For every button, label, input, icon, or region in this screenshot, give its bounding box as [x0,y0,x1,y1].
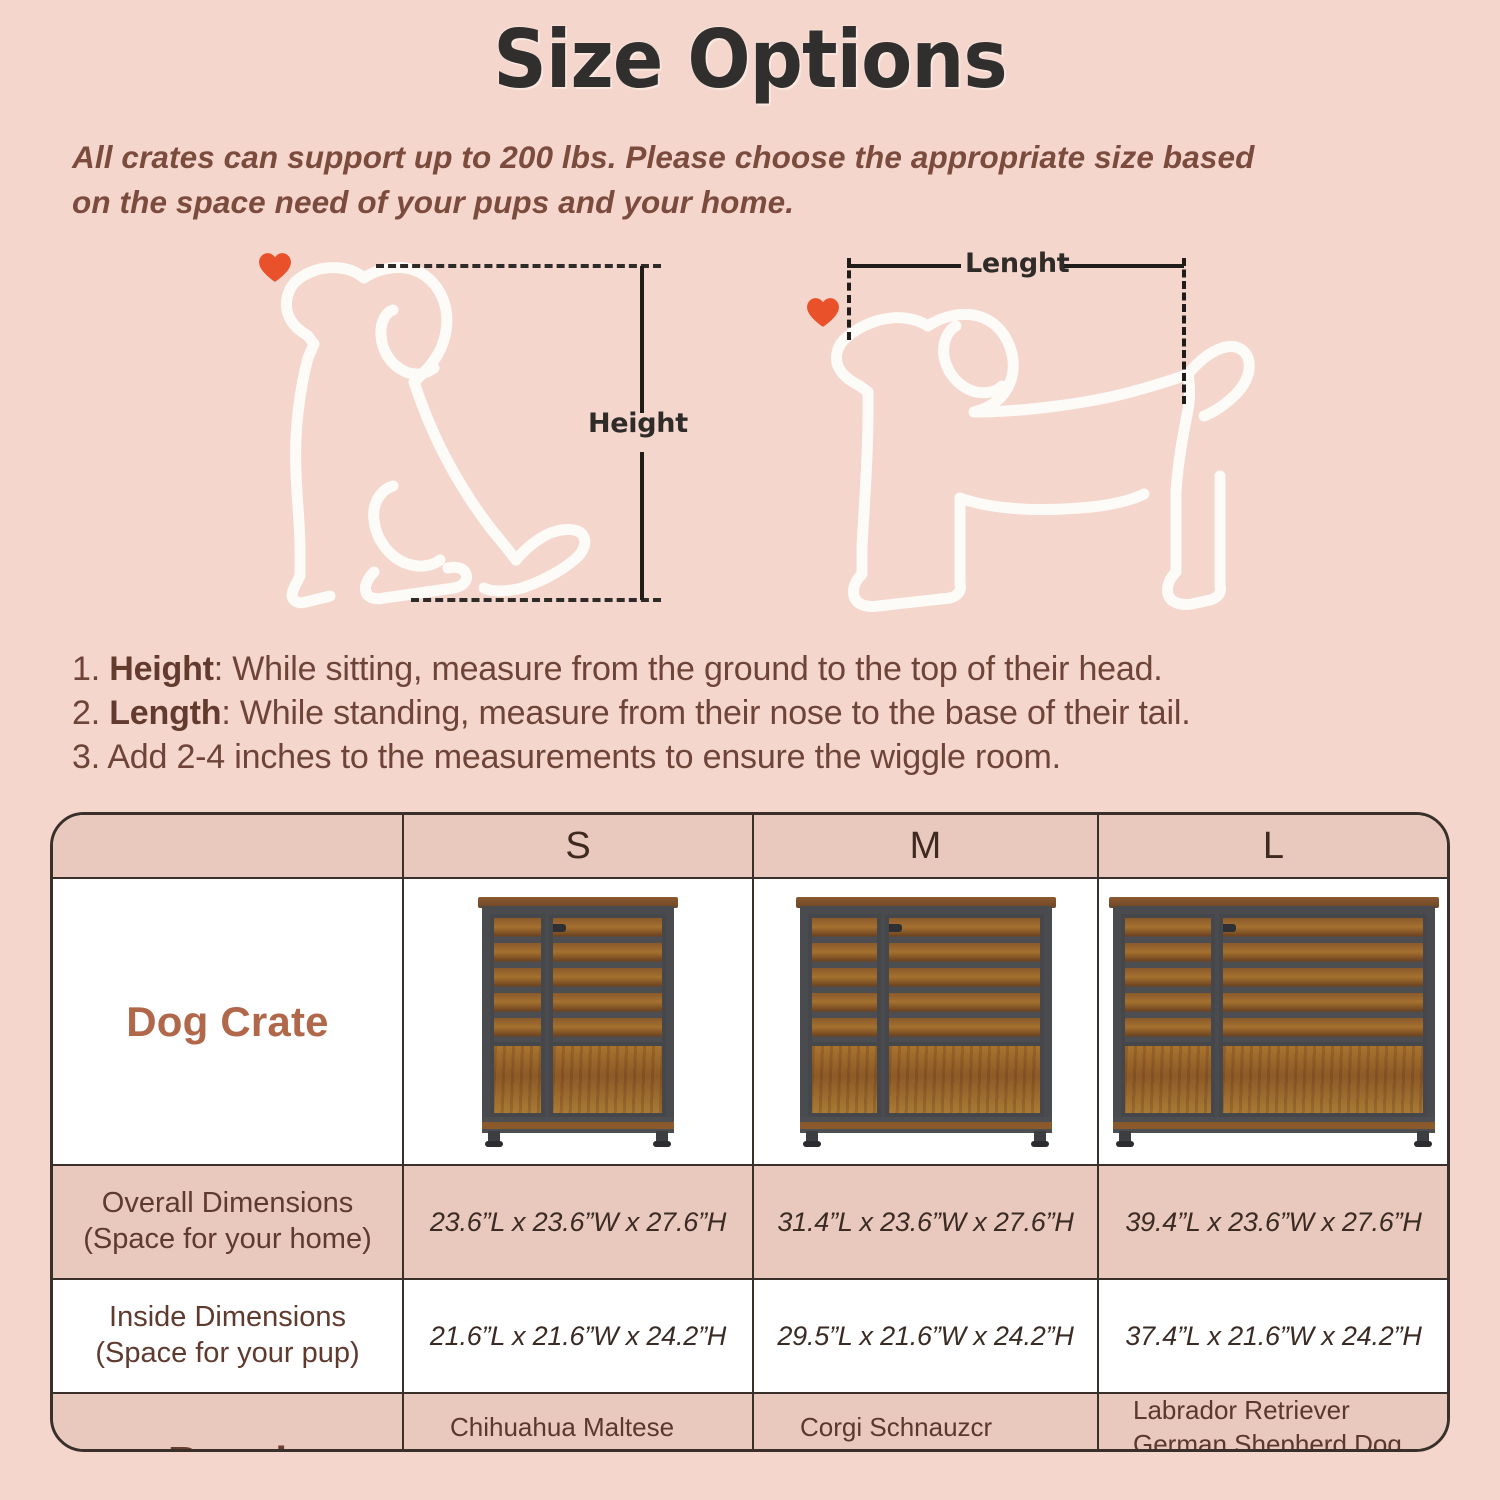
standing-dog-diagram: Lenght [790,240,1270,630]
subtitle-line-1: All crates can support up to 200 lbs. Pl… [72,135,1428,180]
overall-dimensions-label-wrap: Overall Dimensions (Space for your home) [53,1182,402,1262]
crate-illustration-m [796,897,1056,1147]
crate-panel-bottom-left-m [812,1042,877,1112]
instruction-item-3: 3. Add 2-4 inches to the measurements to… [72,736,1402,780]
breed-list-l: Labrador Retriever German Shepherd Dog G… [1099,1394,1448,1452]
subtitle-line-2: on the space need of your pups and your … [72,180,1428,225]
inside-dimensions-text-l: 37.4”L x 21.6”W x 24.2”H [1125,1321,1421,1351]
inside-dimensions-value-l: 37.4”L x 21.6”W x 24.2”H [1098,1279,1448,1393]
crate-panel-bottom-right-s [553,1042,662,1112]
crate-leg-left-m [806,1131,818,1147]
page-title: Size Options [53,0,1448,103]
length-arrow-right [1060,264,1184,268]
instruction-2-number: 2. [72,694,100,732]
dog-crate-label-text: Dog Crate [126,998,329,1045]
inside-dimensions-text-s: 21.6”L x 21.6”W x 24.2”H [430,1321,726,1351]
crate-image-cell-s [403,878,753,1165]
crate-base-m [800,1117,1052,1133]
crate-leg-right-s [656,1131,668,1147]
length-right-dashed-line [1182,258,1186,404]
height-top-dashed-line [376,264,661,268]
instructions-list: 1. Height: While sitting, measure from t… [72,648,1402,780]
crate-image-cell-l [1098,878,1448,1165]
row-label-inside-dimensions: Inside Dimensions (Space for your pup) [53,1279,403,1393]
crate-illustration-s [478,897,678,1147]
crate-door-left-l [1121,914,1216,1117]
instruction-item-1: 1. Height: While sitting, measure from t… [72,648,1402,692]
height-arrow-upper [640,266,644,413]
sitting-dog-diagram: Height [248,240,698,630]
table-row-overall-dimensions: Overall Dimensions (Space for your home)… [53,1165,1448,1279]
inside-dimensions-label-wrap: Inside Dimensions (Space for your pup) [53,1296,402,1376]
overall-dimensions-value-m: 31.4”L x 23.6”W x 27.6”H [753,1165,1098,1279]
crate-body-m [800,906,1052,1125]
instruction-1-number: 1. [72,650,100,688]
row-label-overall-dimensions: Overall Dimensions (Space for your home) [53,1165,403,1279]
crate-door-right-l [1219,914,1426,1117]
table-header-row: S M L [53,815,1448,878]
dog-measurement-diagrams: Height Lenght [0,240,1500,640]
breed-item: Chihuahua Maltese [450,1411,752,1445]
crate-latch-icon-m [885,924,902,932]
breed-label-text: Breed [168,1438,287,1452]
header-cell-l: L [1098,815,1448,878]
instruction-1-text: : While sitting, measure from the ground… [214,650,1163,688]
row-label-breed: Breed [53,1393,403,1452]
instruction-2-term: Length [109,694,221,732]
table-row-dog-crate: Dog Crate [53,878,1448,1165]
breed-value-l: Labrador Retriever German Shepherd Dog G… [1098,1393,1448,1452]
instruction-1-term: Height [109,650,214,688]
crate-base-s [482,1117,674,1133]
row-label-dog-crate: Dog Crate [53,878,403,1165]
breed-item: Dachshund [800,1445,1097,1452]
crate-image-cell-m [753,878,1098,1165]
inside-dimensions-value-s: 21.6”L x 21.6”W x 24.2”H [403,1279,753,1393]
overall-dimensions-text-l: 39.4”L x 23.6”W x 27.6”H [1125,1207,1421,1237]
crate-panel-bottom-left-l [1125,1042,1212,1112]
standing-dog-outline [790,240,1270,630]
inside-dimensions-sublabel: (Space for your pup) [61,1336,394,1372]
breed-item: Corgi Schnauzcr [800,1411,1097,1445]
inside-dimensions-text-m: 29.5”L x 21.6”W x 24.2”H [777,1321,1073,1351]
table-row-inside-dimensions: Inside Dimensions (Space for your pup) 2… [53,1279,1448,1393]
crate-leg-right-m [1034,1131,1046,1147]
crate-body-l [1113,906,1435,1125]
size-comparison-table: S M L Dog Crate [50,812,1450,1452]
overall-dimensions-value-s: 23.6”L x 23.6”W x 27.6”H [403,1165,753,1279]
crate-panel-bottom-right-l [1223,1042,1422,1112]
breed-list-m: Corgi Schnauzcr Dachshund French Bulldog… [754,1411,1097,1452]
subtitle-block: All crates can support up to 200 lbs. Pl… [72,135,1428,224]
height-bottom-dashed-line [411,598,661,602]
breed-list-s: Chihuahua Maltese Yorkshire Toy Poodle S… [404,1411,752,1452]
crate-body-s [482,906,674,1125]
inside-dimensions-label: Inside Dimensions [109,1301,346,1333]
height-label: Height [588,408,688,439]
crate-door-right-s [549,914,666,1117]
height-arrow-lower [640,452,644,600]
crate-leg-left-s [488,1131,500,1147]
overall-dimensions-value-l: 39.4”L x 23.6”W x 27.6”H [1098,1165,1448,1279]
heart-icon [806,297,840,328]
crate-leg-right-l [1417,1131,1429,1147]
crate-base-l [1113,1117,1435,1133]
breed-item: Labrador Retriever [1133,1394,1448,1428]
crate-latch-icon-s [549,924,566,932]
crate-door-left-s [490,914,545,1117]
breed-item: German Shepherd Dog [1133,1428,1448,1452]
crate-illustration-l [1109,897,1439,1147]
instruction-2-text: : While standing, measure from their nos… [221,694,1190,732]
length-left-dashed-line [847,258,851,340]
crate-panel-bottom-right-m [889,1042,1040,1112]
length-label: Lenght [965,248,1069,279]
table-row-breed: Breed Chihuahua Maltese Yorkshire Toy Po… [53,1393,1448,1452]
crate-door-left-m [808,914,881,1117]
header-cell-m: M [753,815,1098,878]
overall-dimensions-label: Overall Dimensions [102,1187,353,1219]
heart-icon [258,252,292,283]
instruction-item-2: 2. Length: While standing, measure from … [72,692,1402,736]
overall-dimensions-sublabel: (Space for your home) [61,1222,394,1258]
crate-door-right-m [885,914,1044,1117]
breed-value-m: Corgi Schnauzcr Dachshund French Bulldog… [753,1393,1098,1452]
header-cell-s: S [403,815,753,878]
crate-panel-bottom-left-s [494,1042,541,1112]
overall-dimensions-text-s: 23.6”L x 23.6”W x 27.6”H [430,1207,726,1237]
breed-item: Yorkshire Toy Poodle [450,1445,752,1452]
breed-value-s: Chihuahua Maltese Yorkshire Toy Poodle S… [403,1393,753,1452]
length-arrow-left [847,264,961,268]
crate-latch-icon-l [1219,924,1236,932]
crate-leg-left-l [1119,1131,1131,1147]
overall-dimensions-text-m: 31.4”L x 23.6”W x 27.6”H [777,1207,1073,1237]
inside-dimensions-value-m: 29.5”L x 21.6”W x 24.2”H [753,1279,1098,1393]
header-cell-blank [53,815,403,878]
